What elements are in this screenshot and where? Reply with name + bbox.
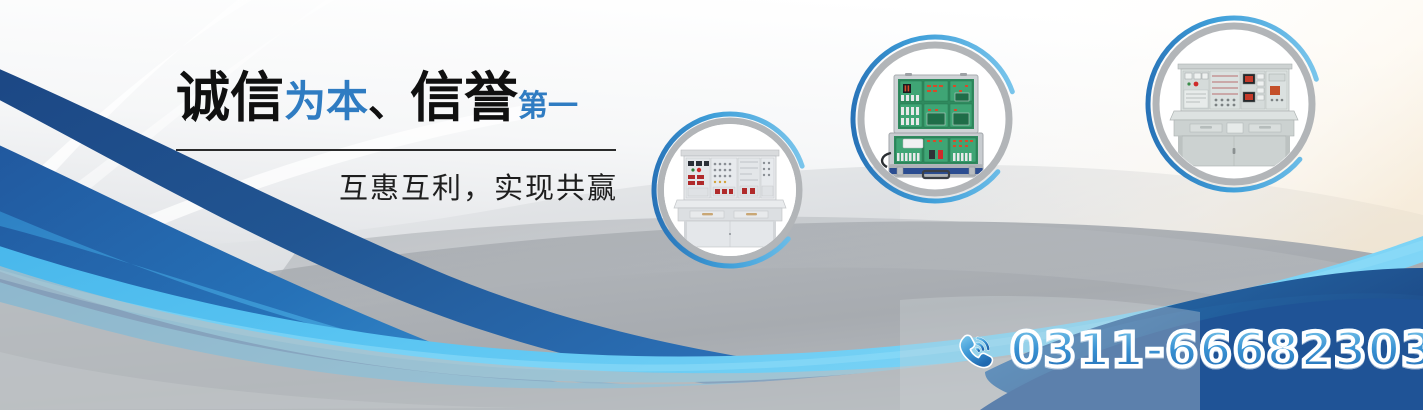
slogan-block: 诚信为本、信誉第一 互惠互利，实现共赢 — [176, 62, 618, 207]
product-circle-2-photo — [865, 49, 1005, 189]
slogan-part-1: 诚信 — [176, 66, 284, 129]
slogan-part-4: 第一 — [518, 89, 578, 124]
slogan-separator: 、 — [368, 77, 410, 126]
slogan-headline: 诚信为本、信誉第一 — [176, 62, 618, 143]
product-circle-3-photo — [1160, 30, 1308, 178]
slogan-part-3: 信誉 — [410, 66, 518, 129]
slogan-subtitle: 互惠互利，实现共赢 — [176, 165, 618, 207]
slogan-divider — [176, 149, 616, 151]
promotional-banner: 诚信为本、信誉第一 互惠互利，实现共赢 — [0, 0, 1423, 410]
suitcase-trainer-illustration — [865, 49, 1005, 189]
product-circle-1-photo — [664, 124, 796, 256]
product-circle-3[interactable] — [1144, 14, 1324, 194]
slogan-part-2: 为本 — [284, 77, 368, 126]
phone-call-icon — [952, 328, 998, 374]
product-circle-2[interactable] — [849, 33, 1021, 205]
phone-number[interactable]: 0311-66682303 — [1010, 325, 1423, 377]
test-bench-illustration — [1160, 30, 1308, 178]
workbench-illustration — [664, 124, 796, 256]
product-circle-1[interactable] — [650, 110, 810, 270]
contact-phone-line[interactable]: 0311-66682303 — [952, 325, 1423, 377]
